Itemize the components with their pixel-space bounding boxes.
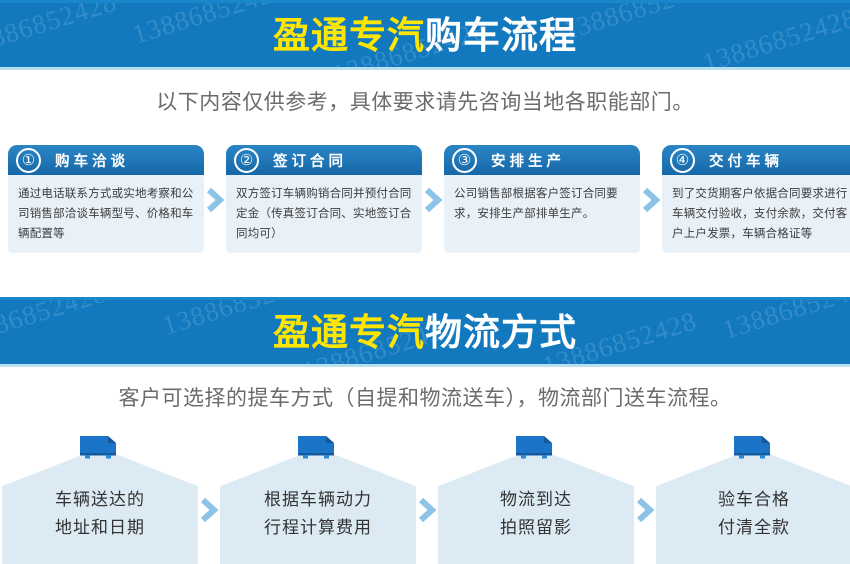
watermark-text: 13886852428: [129, 3, 291, 51]
logistics-arrow-3: [634, 434, 656, 564]
watermark-text: 13886852428: [0, 300, 111, 354]
subtitle-purchase-note: 以下内容仅供参考，具体要求请先咨询当地各职能部门。: [0, 86, 850, 116]
step-description: 公司销售部根据客户签订合同要求，安排生产部排单生产。: [454, 184, 630, 224]
subtitle-logistics-note: 客户可选择的提车方式（自提和物流送车），物流部门送车流程。: [0, 382, 850, 412]
purchase-steps-row: ① 购车洽谈 通过电话联系方式或实地考察和公司销售部洽谈车辆型号、价格和车辆配置…: [8, 145, 842, 255]
step-description: 通过电话联系方式或实地考察和公司销售部洽谈车辆型号、价格和车辆配置等: [18, 184, 194, 244]
logistics-card[interactable]: 根据车辆动力 行程计算费用: [220, 434, 416, 564]
chevron-right-icon: [199, 497, 219, 523]
logistics-card-text: 物流到达 拍照留影: [438, 486, 634, 542]
banner-purchase-process: 13886852428 13886852428 13886852428 1388…: [0, 0, 850, 70]
logistics-card-text: 车辆送达的 地址和日期: [2, 486, 198, 542]
chevron-right-icon: [205, 187, 225, 213]
chevron-right-icon: [423, 187, 443, 213]
step-card[interactable]: ③ 安排生产 公司销售部根据客户签订合同要求，安排生产部排单生产。: [444, 145, 640, 253]
step-title: 交付车辆: [709, 150, 783, 171]
chevron-right-icon: [417, 497, 437, 523]
logistics-line-1: 验车合格: [656, 486, 850, 514]
step-card[interactable]: ② 签订合同 双方签订车辆购销合同并预付合同定金（传真签订合同、实地签订合同均可…: [226, 145, 422, 253]
logistics-arrow-2: [416, 434, 438, 564]
step-card-header: ④ 交付车辆: [662, 145, 850, 175]
chevron-right-icon: [641, 187, 661, 213]
step-card-header: ③ 安排生产: [444, 145, 640, 175]
step-title: 购车洽谈: [55, 150, 129, 171]
logistics-line-2: 行程计算费用: [220, 514, 416, 542]
watermark-text: 13886852428: [0, 3, 121, 63]
logistics-steps-row: 车辆送达的 地址和日期 根据车辆动力 行程计算费用: [2, 434, 848, 564]
logistics-line-1: 根据车辆动力: [220, 486, 416, 514]
step-title: 安排生产: [491, 150, 565, 171]
step-description: 到了交货期客户依据合同要求进行车辆交付验收，支付余款，交付客户上户发票，车辆合格…: [672, 184, 848, 244]
truck-icon: [78, 434, 122, 460]
banner-logistics-method: 13886852428 13886852428 13886852428 1388…: [0, 297, 850, 367]
step-arrow-3: [640, 145, 662, 255]
banner-one-title: 盈通专汽购车流程: [273, 17, 577, 54]
step-card-body: 双方签订车辆购销合同并预付合同定金（传真签订合同、实地签订合同均可）: [226, 175, 422, 253]
watermark-text: 13886852428: [719, 300, 850, 346]
banner-two-brand: 盈通专汽: [273, 312, 425, 353]
logistics-card-text: 验车合格 付清全款: [656, 486, 850, 542]
step-card-body: 到了交货期客户依据合同要求进行车辆交付验收，支付余款，交付客户上户发票，车辆合格…: [662, 175, 850, 253]
step-card-header: ① 购车洽谈: [8, 145, 204, 175]
step-card[interactable]: ① 购车洽谈 通过电话联系方式或实地考察和公司销售部洽谈车辆型号、价格和车辆配置…: [8, 145, 204, 253]
logistics-line-2: 拍照留影: [438, 514, 634, 542]
logistics-line-2: 付清全款: [656, 514, 850, 542]
truck-icon: [296, 434, 340, 460]
logistics-arrow-1: [198, 434, 220, 564]
step-card[interactable]: ④ 交付车辆 到了交货期客户依据合同要求进行车辆交付验收，支付余款，交付客户上户…: [662, 145, 850, 253]
step-card-header: ② 签订合同: [226, 145, 422, 175]
step-number-badge: ①: [16, 148, 41, 173]
promo-page: 13886852428 13886852428 13886852428 1388…: [0, 0, 850, 564]
logistics-card-text: 根据车辆动力 行程计算费用: [220, 486, 416, 542]
step-number-badge: ③: [452, 148, 477, 173]
watermark-text: 13886852428: [559, 3, 721, 47]
step-card-body: 通过电话联系方式或实地考察和公司销售部洽谈车辆型号、价格和车辆配置等: [8, 175, 204, 253]
step-title: 签订合同: [273, 150, 347, 171]
banner-one-brand: 盈通专汽: [273, 15, 425, 56]
step-number-badge: ④: [670, 148, 695, 173]
step-arrow-2: [422, 145, 444, 255]
logistics-line-1: 物流到达: [438, 486, 634, 514]
logistics-line-1: 车辆送达的: [2, 486, 198, 514]
step-card-body: 公司销售部根据客户签订合同要求，安排生产部排单生产。: [444, 175, 640, 253]
truck-icon: [732, 434, 776, 460]
watermark-text: 13886852428: [699, 3, 850, 67]
banner-one-subject: 购车流程: [425, 15, 577, 56]
logistics-card[interactable]: 车辆送达的 地址和日期: [2, 434, 198, 564]
step-number-badge: ②: [234, 148, 259, 173]
truck-icon: [514, 434, 558, 460]
chevron-right-icon: [635, 497, 655, 523]
banner-two-title: 盈通专汽物流方式: [273, 314, 577, 351]
logistics-card[interactable]: 验车合格 付清全款: [656, 434, 850, 564]
banner-two-subject: 物流方式: [425, 312, 577, 353]
logistics-card[interactable]: 物流到达 拍照留影: [438, 434, 634, 564]
step-description: 双方签订车辆购销合同并预付合同定金（传真签订合同、实地签订合同均可）: [236, 184, 412, 244]
logistics-line-2: 地址和日期: [2, 514, 198, 542]
step-arrow-1: [204, 145, 226, 255]
